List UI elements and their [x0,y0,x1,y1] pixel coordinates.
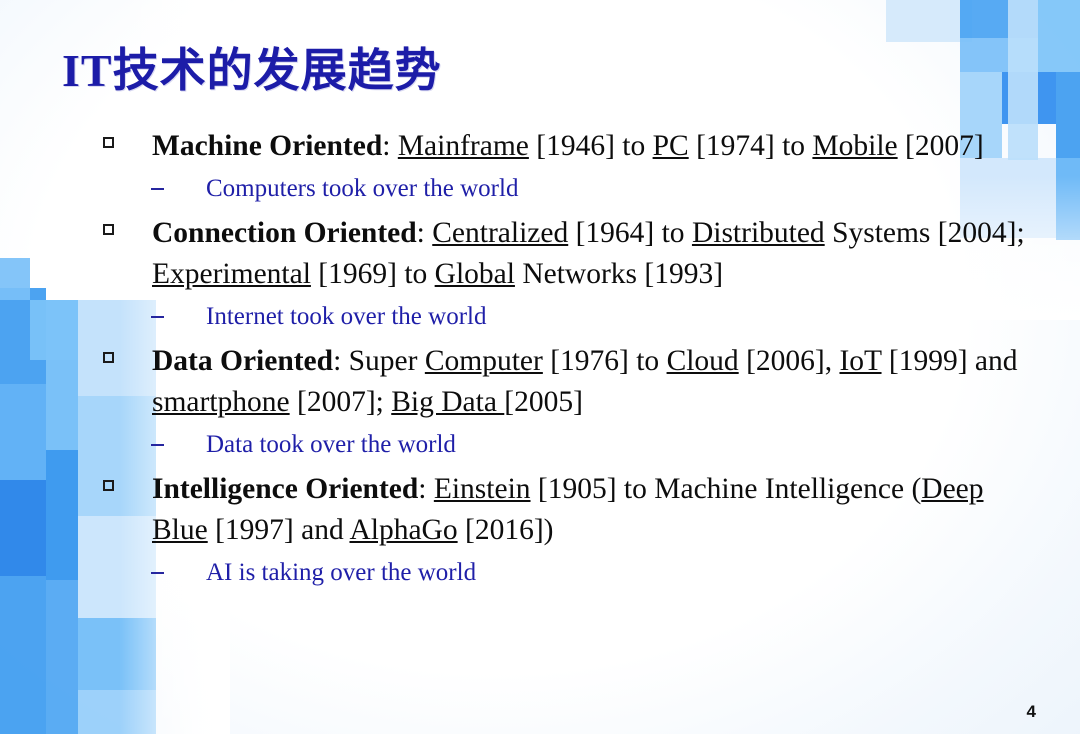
hollow-square-bullet-icon [103,137,114,148]
text-segment: [1997] and [208,514,350,546]
text-segment: [1905] to Machine Intelligence ( [531,473,922,505]
text-segment: [2016]) [458,514,554,546]
text-segment: smartphone [152,386,290,418]
text-segment: Experimental [152,258,311,290]
bullet-level2: Computers took over the world [96,169,1026,209]
dash-bullet-icon [151,444,164,446]
hollow-square-bullet-icon [103,480,114,491]
text-segment: [2005] [504,386,583,418]
text-segment: Networks [1993] [515,258,723,290]
slide-canvas: IT技术的发展趋势 Machine Oriented: Mainframe [1… [0,0,1080,734]
text-segment: Connection Oriented [152,217,417,249]
bullet-level1: Connection Oriented: Centralized [1964] … [96,213,1026,295]
text-segment: : [418,473,434,505]
page-number: 4 [1027,702,1036,722]
text-segment: : [417,217,433,249]
dash-bullet-icon [151,572,164,574]
bullet-level2-text: Computers took over the world [206,175,518,202]
text-segment: AlphaGo [349,514,457,546]
bullet-level1-text: Data Oriented: Super Computer [1976] to … [152,345,1018,418]
text-segment: [1976] to [543,345,667,377]
text-segment: : Super [333,345,425,377]
bullet-level1-text: Machine Oriented: Mainframe [1946] to PC… [152,130,984,162]
bullet-level2: AI is taking over the world [96,553,1026,593]
text-segment: [2006], [739,345,840,377]
slide-title: IT技术的发展趋势 [62,34,442,100]
dash-bullet-icon [151,188,164,190]
hollow-square-bullet-icon [103,224,114,235]
text-segment: PC [653,130,689,162]
bullet-level1: Intelligence Oriented: Einstein [1905] t… [96,469,1026,551]
text-segment: Mobile [812,130,897,162]
text-segment: [2007] [898,130,984,162]
bullet-level1: Machine Oriented: Mainframe [1946] to PC… [96,126,1026,167]
text-segment: [1964] to [568,217,692,249]
text-segment: [1999] and [882,345,1018,377]
text-segment: IoT [839,345,881,377]
text-segment: [1946] to [529,130,653,162]
text-segment: : [382,130,398,162]
bullet-level1: Data Oriented: Super Computer [1976] to … [96,341,1026,423]
bullet-level2: Data took over the world [96,425,1026,465]
text-segment: Machine Oriented [152,130,382,162]
bullet-level1-text: Connection Oriented: Centralized [1964] … [152,217,1025,290]
text-segment: Big Data [391,386,504,418]
text-segment: Distributed [692,217,825,249]
text-segment: Global [435,258,515,290]
text-segment: Systems [2004]; [825,217,1025,249]
hollow-square-bullet-icon [103,352,114,363]
bullet-level2-text: Internet took over the world [206,303,486,330]
text-segment: Intelligence Oriented [152,473,418,505]
text-segment: Mainframe [398,130,529,162]
text-segment: Einstein [434,473,531,505]
bullet-level1-text: Intelligence Oriented: Einstein [1905] t… [152,473,984,546]
text-segment: Computer [425,345,543,377]
dash-bullet-icon [151,316,164,318]
text-segment: Centralized [432,217,568,249]
bullet-level2: Internet took over the world [96,297,1026,337]
text-segment: Cloud [667,345,739,377]
bullet-level2-text: AI is taking over the world [206,559,476,586]
slide-body: Machine Oriented: Mainframe [1946] to PC… [96,126,1026,597]
bullet-level2-text: Data took over the world [206,431,456,458]
text-segment: [2007]; [290,386,392,418]
text-segment: Data Oriented [152,345,333,377]
text-segment: [1969] to [311,258,435,290]
text-segment: [1974] to [689,130,813,162]
